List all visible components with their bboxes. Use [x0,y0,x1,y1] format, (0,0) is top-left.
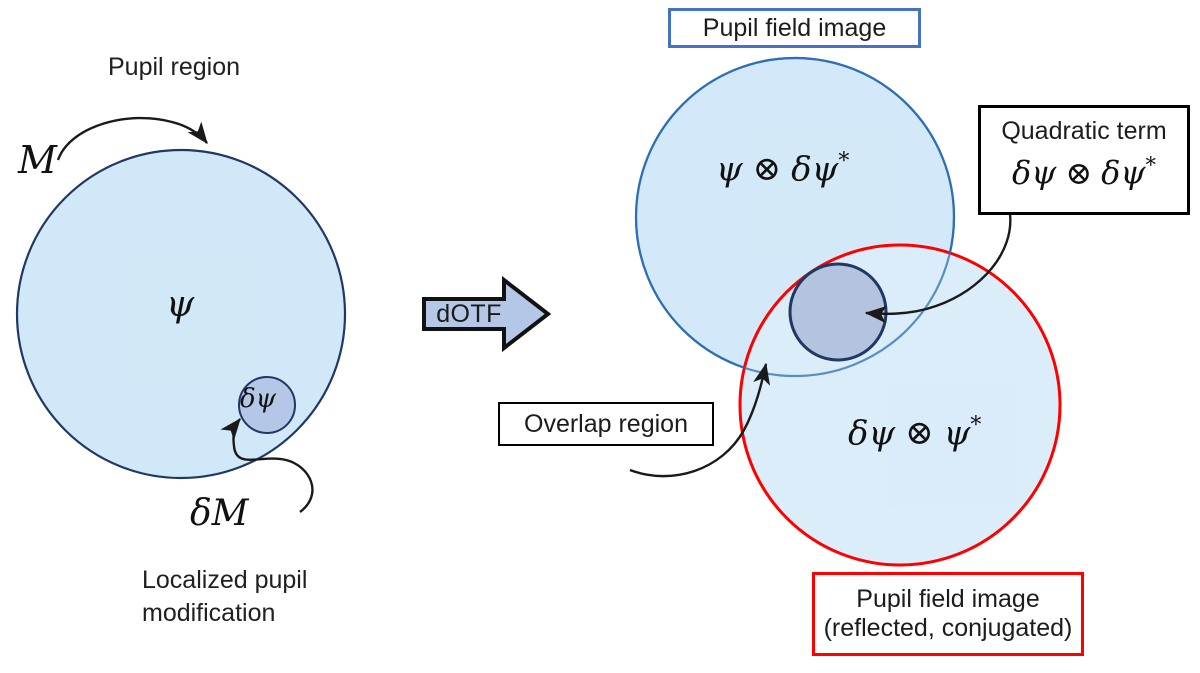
field-symbol-label: ψ [166,285,194,325]
overlap-region-box: Overlap region [498,402,714,446]
dotf-transform-arrow: dOTF [418,272,554,356]
figure-canvas: dOTF Pupil region M ψ δψ δM Localized pu… [0,0,1200,673]
quadratic-formula-right: δψ [1101,154,1145,192]
blue-circle-formula: ψ⊗δψ* [716,150,849,189]
blue-formula-star: * [838,149,849,174]
bottom-pupil-field-image-line1: Pupil field image [856,585,1039,614]
localized-modification-caption-line1: Localized pupil [142,565,307,596]
quadratic-formula-star: * [1146,153,1157,177]
quadratic-formula-operator: ⊗ [1065,154,1092,192]
blue-formula-operator: ⊗ [753,149,782,189]
red-circle-formula: δψ⊗ψ* [848,414,981,453]
red-formula-left: δψ [848,413,895,453]
localized-modification-caption-line2: modification [142,598,275,629]
red-formula-operator: ⊗ [905,413,934,453]
quadratic-formula-left: δψ [1012,154,1056,192]
quadratic-term-title: Quadratic term [1001,117,1166,146]
red-pupil-field-circle [735,240,1075,580]
blue-formula-left: ψ [716,149,743,189]
top-pupil-field-image-label: Pupil field image [703,14,886,43]
red-formula-right: ψ [944,413,971,453]
overlap-quadratic-circle [790,264,886,360]
dotf-arrow-label: dOTF [436,300,502,329]
delta-mask-symbol-label: δM [190,494,249,534]
red-formula-star: * [970,413,981,438]
blue-formula-right: δψ [791,149,838,189]
quadratic-term-formula: δψ⊗δψ* [1012,154,1156,191]
pupil-region-label: Pupil region [108,52,240,83]
overlap-region-label: Overlap region [524,410,688,439]
quadratic-term-box: Quadratic term δψ⊗δψ* [978,105,1190,215]
top-pupil-field-image-box: Pupil field image [668,8,921,48]
mask-symbol-label: M [18,140,57,182]
bottom-pupil-field-image-box: Pupil field image (reflected, conjugated… [812,572,1084,656]
bottom-pupil-field-image-line2: (reflected, conjugated) [824,614,1073,643]
delta-field-symbol-label: δψ [240,385,276,414]
